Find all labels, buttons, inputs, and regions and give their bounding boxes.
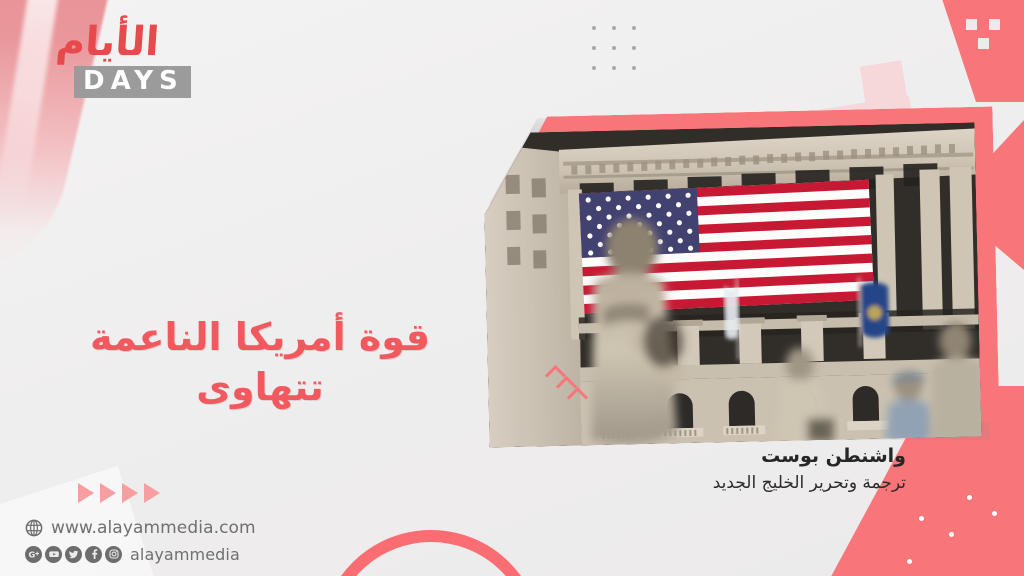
triangle-right-icon [100,483,116,503]
website-row[interactable]: www.alayammedia.com [25,515,256,541]
grid-dot [632,46,636,50]
googleplus-icon[interactable]: G [25,546,42,563]
social-handle[interactable]: alayammedia [130,545,240,564]
svg-text:G: G [28,549,35,559]
grid-dot [612,46,616,50]
instagram-icon[interactable] [105,546,122,563]
triangle-right-icon [122,483,138,503]
grid-dot [592,46,596,50]
page-title: قوة أمريكا الناعمة تتهاوى [60,312,460,412]
chevron-decor-group [548,368,604,420]
triangle-right-icon [144,483,160,503]
globe-icon [25,519,43,537]
logo-arabic-text: الأيام [55,22,161,62]
source-name: واشنطن بوست [713,442,906,471]
corner-square-2 [989,19,1000,30]
arrow-decor-group [78,483,160,503]
headline-line-1: قوة أمريكا الناعمة [60,312,460,362]
grid-dot [612,66,616,70]
coral-panel-dot [967,495,972,500]
footer: www.alayammedia.com G alay [25,515,256,567]
grid-dot [592,26,596,30]
social-row[interactable]: G alayammedia [25,541,256,567]
website-url[interactable]: www.alayammedia.com [51,518,256,538]
triangle-right-icon [78,483,94,503]
poster-canvas: الأيام DAYS قوة أمريكا الناعمة تتهاوى [0,0,1024,576]
brand-logo[interactable]: الأيام DAYS [54,22,174,108]
grid-dot [632,26,636,30]
dot-grid-decor [592,26,652,86]
coral-panel-dot [919,516,924,521]
coral-panel-dot [992,511,997,516]
coral-panel-dot [949,532,954,537]
youtube-icon[interactable] [45,546,62,563]
grid-dot [612,26,616,30]
corner-square-1 [966,19,977,30]
twitter-icon[interactable] [65,546,82,563]
grid-dot [592,66,596,70]
facebook-icon[interactable] [85,546,102,563]
logo-latin-text: DAYS [74,66,191,98]
coral-panel-dot [907,559,912,564]
corner-square-3 [978,38,989,49]
social-icon-group: G [25,546,122,563]
source-subtitle: ترجمة وتحرير الخليج الجديد [713,471,906,497]
headline-line-2: تتهاوى [60,362,460,412]
grid-dot [632,66,636,70]
source-credit: واشنطن بوست ترجمة وتحرير الخليج الجديد [713,442,906,496]
